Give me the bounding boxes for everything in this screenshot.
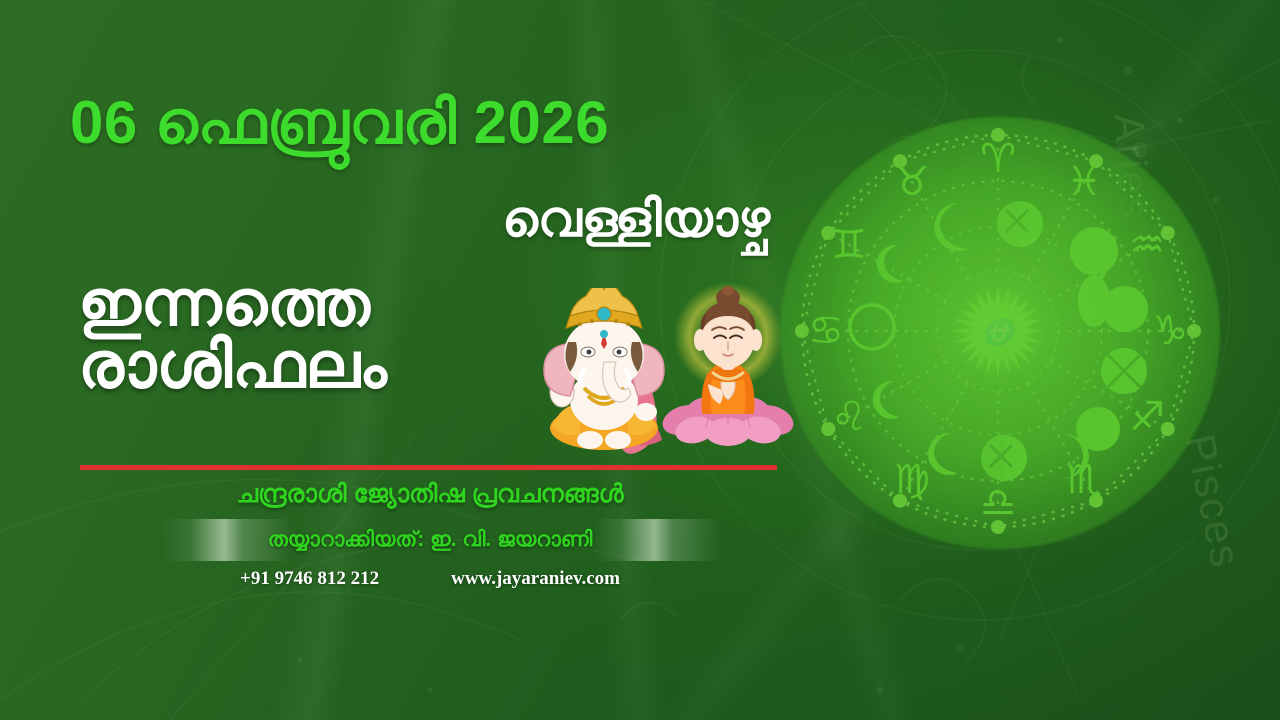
main-title-line2: രാശിഫലം xyxy=(78,334,387,396)
website-url[interactable]: www.jayaraniev.com xyxy=(451,568,620,590)
author-credit: തയ്യാറാക്കിയത്: ഇ. വി. ജയറാണി xyxy=(60,519,800,561)
phone-number: +91 9746 812 212 xyxy=(240,568,379,590)
weekday-line: വെള്ളിയാഴ്ച xyxy=(70,190,770,249)
page-title: ഇന്നത്തെ രാശിഫലം xyxy=(78,272,387,396)
subtitle: ചന്ദ്രരാശി ജ്യോതിഷ പ്രവചനങ്ങൾ xyxy=(60,480,800,509)
buddha-figure xyxy=(662,272,794,454)
poster-canvas: Aries Pisces xyxy=(0,0,1280,720)
zodiac-wheel: ♈ ♓ ♒ ♑ ♐ ♏ ♎ ♍ ♌ ♋ ♊ ♉ xyxy=(770,105,1240,560)
zodiac-wheel-glow xyxy=(780,117,1220,549)
author-ribbon-row: തയ്യാറാക്കിയത്: ഇ. വി. ജയറാണി xyxy=(60,519,800,561)
contact-row: +91 9746 812 212 www.jayaraniev.com xyxy=(60,562,800,596)
main-title-line1: ഇന്നത്തെ xyxy=(78,272,387,334)
date-line: 06 ഫെബ്രുവരി 2026 xyxy=(70,88,870,158)
red-divider xyxy=(80,465,777,470)
